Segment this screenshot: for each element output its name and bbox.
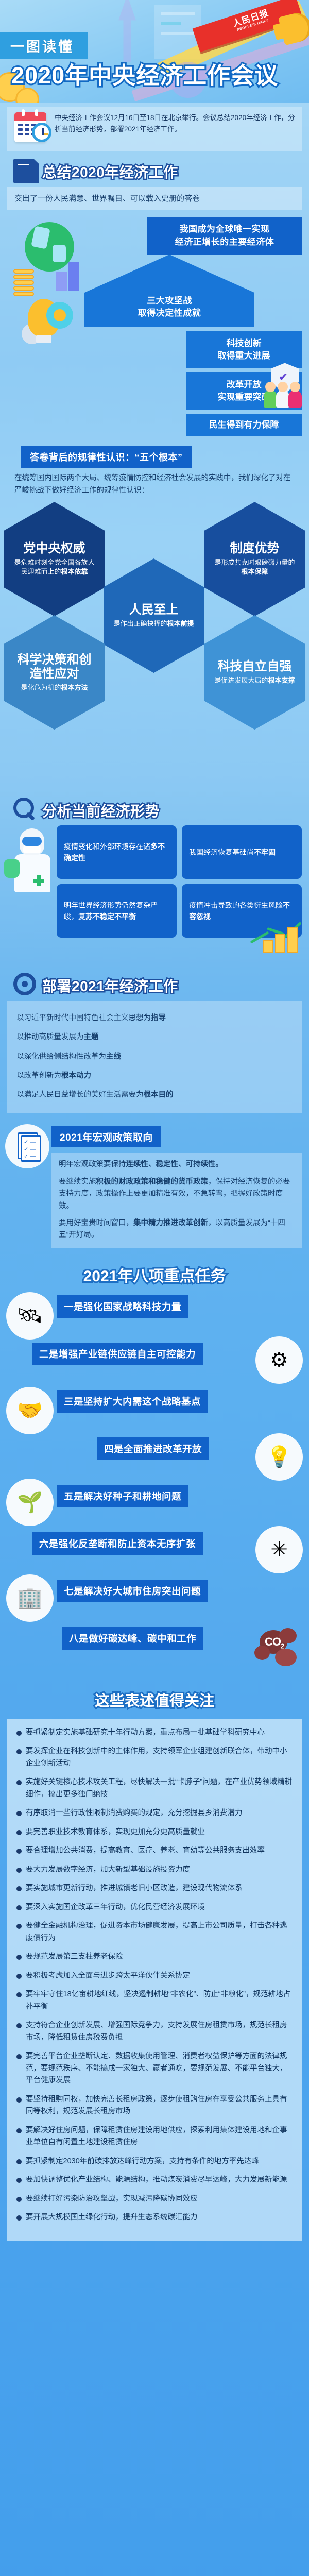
section-title-analysis: 分析当前经济形势 <box>0 799 309 822</box>
deploy-plain: 以习近平新时代中国特色社会主义思想为 <box>16 1014 151 1022</box>
final-bullet-list: 要抓紧制定实施基础研究十年行动方案，重点布局一批基础学科研究中心要发挥企业在科技… <box>7 1719 302 2241</box>
hex-desc-plain: 是形成共克时艰磅礴力量的 <box>214 558 295 566</box>
five-fundamentals-paragraph: 在统筹国内国际两个大局、统筹疫情防控和经济社会发展的实践中，我们深化了对在严峻挑… <box>14 472 295 497</box>
section3-title: 部署2021年经济工作 <box>42 975 178 996</box>
final-bullet-item: 有序取消一些行政性限制消费购买的规定，充分挖掘县乡消费潜力 <box>15 1807 294 1819</box>
final-bullet-item: 实施好关键核心技术攻关工程，尽快解决一批“卡脖子”问题，在产业优势领域精耕细作，… <box>15 1776 294 1801</box>
hex-tech-selfreliance: 科技自立自强 是促进发展大局的根本支撑 <box>204 615 305 730</box>
macro-policy-text: 明年宏观政策要保持连续性、稳定性、可持续性。 要继续实施积极的财政政策和稳健的货… <box>51 1153 302 1248</box>
peoples-daily-ribbon: 人民日报 PEOPLE'S DAILY <box>194 0 309 60</box>
macro-p3-bold: 集中精力推进改革创新 <box>133 1219 208 1227</box>
task-label: 六是强化反垄断和防止资本无序扩张 <box>32 1532 203 1555</box>
section2-title: 分析当前经济形势 <box>42 800 160 821</box>
task-label: 七是解决好大城市住房突出问题 <box>57 1580 208 1602</box>
hex-desc-bold: 根本支撑 <box>268 676 295 684</box>
analysis-card: 明年世界经济形势仍然复杂严峻，复苏不稳定不平衡 <box>57 884 177 938</box>
card-text-plain: 我国经济恢复基础尚 <box>189 848 254 856</box>
task-icon-glyph: 🤝 <box>17 1400 43 1421</box>
hex-desc-bold: 根本依靠 <box>61 568 88 575</box>
achievement-three-battles: 三大攻坚战 取得决定性成就 <box>84 293 254 327</box>
co2-icon: CO2 <box>254 1628 301 1667</box>
hex-title: 科技自立自强 <box>213 659 297 674</box>
globe-growth-icon <box>10 222 77 299</box>
coins-icon <box>13 268 34 296</box>
macro-policy-heading: 2021年宏观政策取向 <box>51 1126 161 1147</box>
task-icon-glyph: ⚙ <box>270 1350 288 1370</box>
eight-tasks-title: 2021年八项重点任务 <box>0 1263 309 1286</box>
deploy-plain: 以推动高质量发展为 <box>16 1033 84 1041</box>
achievement-line2: 经济正增长的主要经济体 <box>152 236 297 249</box>
arrow-decoration <box>118 0 136 62</box>
hex-title: 制度优势 <box>213 541 297 556</box>
task-label: 五是解决好种子和耕地问题 <box>57 1485 188 1507</box>
final-bullet-item: 要深入实施国企改革三年行动，优化民营经济发展环境 <box>15 1902 294 1913</box>
hex-scientific-decision: 科学决策和创造性应对 是化危为机的根本方法 <box>4 615 105 730</box>
macro-p2: 要继续实施积极的财政政策和稳健的货币政策，保持对经济恢复的必要支持力度，政策操作… <box>59 1176 295 1212</box>
magnifier-icon <box>13 798 34 818</box>
final-bullet-item: 要完善平台企业垄断认定、数据收集使用管理、消费者权益保护等方面的法律规范，要规范… <box>15 2050 294 2087</box>
hex-desc: 是形成共克时艰磅礴力量的根本保障 <box>213 558 297 577</box>
deploy-bold: 根本动力 <box>61 1072 91 1080</box>
final-bullet-item: 要大力发展数字经济，加大新型基础设施投资力度 <box>15 1864 294 1876</box>
tech-line1: 科技创新 <box>190 337 298 350</box>
achievement-line1: 我国成为全球唯一实现 <box>152 223 297 236</box>
final-bullet-item: 支持符合企业创新发展、增强国际竞争力，支持发展住房租赁市场，规范长租房市场，降低… <box>15 2020 294 2044</box>
final-section-title: 这些表述值得关注 <box>0 1689 309 1710</box>
header-banner: 人民日报 PEOPLE'S DAILY 一图读懂 2020年中央经济工作会议 <box>0 0 309 103</box>
final-bullet-item: 要抓紧制定2030年前碳排放达峰行动方案，支持有条件的地方率先达峰 <box>15 2156 294 2167</box>
checklist-icon: ✓ — ✓ — ✓ — <box>5 1124 49 1168</box>
document-pen-icon <box>13 159 39 183</box>
task-icon-glyph: 💡 <box>266 1447 292 1467</box>
intro-block: 中央经济工作会议12月16日至18日在北京举行。会议总结2020年经济工作，分析… <box>7 107 302 151</box>
seedling-shovel-icon: 🌱 <box>6 1479 54 1526</box>
hex-desc: 是作出正确抉择的根本前提 <box>112 619 196 629</box>
card-text-plain: 疫情变化和外部环境存在诸 <box>64 842 150 851</box>
task-label: 四是全面推进改革开放 <box>97 1437 209 1460</box>
macro-p2-a: 要继续实施 <box>59 1178 96 1186</box>
analysis-card: 疫情冲击导致的各类衍生风险不容忽视 <box>182 884 302 938</box>
intro-text: 中央经济工作会议12月16日至18日在北京举行。会议总结2020年经济工作，分析… <box>55 112 298 135</box>
task-icon-glyph: 🛰 <box>17 1306 43 1326</box>
deploy-bold: 根本目的 <box>144 1091 174 1099</box>
macro-p3-a: 要用好宝贵时间窗口， <box>59 1219 133 1227</box>
hex-title: 科学决策和创造性应对 <box>12 653 96 681</box>
anti-monopoly-icon: ✳ <box>255 1526 303 1573</box>
task-item: 💡 四是全面推进改革开放 <box>0 1434 309 1482</box>
hex-desc-bold: 根本方法 <box>61 684 88 691</box>
section1-lead: 交出了一份人民满意、世界瞩目、可以载入史册的答卷 <box>7 187 302 210</box>
lightbulb-gear-icon: 💡 <box>255 1433 303 1481</box>
deploy-row: 以满足人民日益增长的美好生活需要为根本目的 <box>16 1086 293 1105</box>
task-label: 三是坚持扩大内需这个战略基点 <box>57 1390 208 1413</box>
task-item: ⚙ 二是增强产业链供应链自主可控能力 <box>0 1340 309 1387</box>
task-item: 🏢 七是解决好大城市住房突出问题 <box>0 1577 309 1624</box>
final-bullet-item: 要完善职业技术教育体系，实现更加充分更高质量就业 <box>15 1826 294 1838</box>
final-bullet-item: 要坚持租购同权，加快完善长租房政策，逐步使租购住房在享受公共服务上具有同等权利，… <box>15 2094 294 2118</box>
deploy-bold: 主题 <box>84 1033 99 1041</box>
housing-hand-icon: 🏢 <box>6 1574 54 1622</box>
achievement-arrow-group: 三大攻坚战 取得决定性成就 <box>84 255 254 327</box>
task-item: 🌱 五是解决好种子和耕地问题 <box>0 1482 309 1529</box>
hex-title: 人民至上 <box>112 603 196 617</box>
final-bullet-item: 要实施城市更新行动，推进城镇老旧小区改造，建设现代物流体系 <box>15 1883 294 1894</box>
task-label: 八是做好碳达峰、碳中和工作 <box>62 1627 203 1650</box>
final-bullet-item: 要发挥企业在科技创新中的主体作用，支持领军企业组建创新联合体，带动中小企业创新活… <box>15 1745 294 1770</box>
doctor-ppe-icon <box>6 827 58 905</box>
growth-chart-icon <box>248 907 305 953</box>
analysis-card: 我国经济恢复基础尚不牢固 <box>182 825 302 879</box>
three-battles-line2: 取得决定性成就 <box>90 307 249 319</box>
deploy-row: 以习近平新时代中国特色社会主义思想为指导 <box>16 1009 293 1028</box>
task-label: 一是强化国家战略科技力量 <box>57 1295 188 1318</box>
analysis-cards: 疫情变化和外部环境存在诸多不确定性 我国经济恢复基础尚不牢固 明年世界经济形势仍… <box>7 825 302 938</box>
final-bullet-item: 要规范发展第三支柱养老保险 <box>15 1951 294 1963</box>
deploy-plain: 以改革创新为 <box>16 1072 61 1080</box>
final-bullet-item: 要加快调整优化产业结构、能源结构，推动煤炭消费尽早达峰，大力发展新能源 <box>15 2174 294 2186</box>
hand-card-icon: 🤝 <box>6 1387 54 1434</box>
final-bullet-item: 要开展大规模国土绿化行动，提升生态系统碳汇能力 <box>15 2212 294 2224</box>
section1-title: 总结2020年经济工作 <box>42 161 178 182</box>
task-label: 二是增强产业链供应链自主可控能力 <box>32 1343 203 1365</box>
header-tag: 一图读懂 <box>0 32 88 59</box>
five-fundamentals-hexagons: 党中央权威 是危难时刻全党全国各族人民迎难而上的根本依靠 制度优势 是形成共克时… <box>0 502 309 790</box>
card-text-bold: 不牢固 <box>254 848 276 856</box>
task-icon-glyph: 🏢 <box>17 1588 43 1608</box>
task-icon-glyph: ✳ <box>270 1539 288 1560</box>
final-bullet-item: 要合理增加公共消费，提高教育、医疗、养老、育幼等公共服务支出效率 <box>15 1845 294 1857</box>
arrow-head-shape <box>84 255 254 293</box>
shield-check-icon <box>264 363 304 408</box>
card-text-bold: 苏不稳定不平衡 <box>85 912 136 921</box>
hex-desc: 是促进发展大局的根本支撑 <box>213 676 297 685</box>
final-bullet-item: 要积极考虑加入全面与进步跨太平洋伙伴关系协定 <box>15 1970 294 1982</box>
deploy-bold: 指导 <box>151 1014 166 1022</box>
hex-desc: 是危难时刻全党全国各族人民迎难而上的根本依靠 <box>12 558 96 577</box>
deploy-row: 以推动高质量发展为主题 <box>16 1028 293 1047</box>
final-bullet-item: 要继续打好污染防治攻坚战，实现减污降碳协同效应 <box>15 2193 294 2205</box>
hex-desc-plain: 是化危为机的 <box>21 684 61 691</box>
deploy-plain: 以满足人民日益增长的美好生活需要为 <box>16 1091 144 1099</box>
task-item: 🤝 三是坚持扩大内需这个战略基点 <box>0 1387 309 1434</box>
section-title-deploy: 部署2021年经济工作 <box>0 974 309 997</box>
task-item: CO2 八是做好碳达峰、碳中和工作 <box>0 1624 309 1671</box>
macro-p1: 明年宏观政策要保持连续性、稳定性、可持续性。 <box>59 1159 295 1171</box>
deploy-bold: 主线 <box>106 1053 121 1061</box>
final-bullet-item: 要健全金融机构治理，促进资本市场健康发展，提高上市公司质量，打击各种逃废债行为 <box>15 1920 294 1944</box>
macro-policy-block: ✓ — ✓ — ✓ — 2021年宏观政策取向 明年宏观政策要保持连续性、稳定性… <box>7 1126 302 1248</box>
target-arrow-icon <box>13 973 36 995</box>
hex-desc-bold: 根本前提 <box>167 620 194 628</box>
task-icon-glyph: 🌱 <box>17 1492 43 1513</box>
co2-label: CO2 <box>265 1635 284 1650</box>
achievements-block: 我国成为全球唯一实现 经济正增长的主要经济体 三大攻坚战 取得决定性成就 科技创… <box>7 217 302 436</box>
three-battles-line1: 三大攻坚战 <box>90 295 249 307</box>
deploy-plain: 以深化供给侧结构性改革为 <box>16 1053 106 1061</box>
hex-desc-plain: 是作出正确抉择的 <box>113 620 167 628</box>
supply-chain-icon: ⚙ <box>255 1336 303 1384</box>
deploy-row: 以深化供给侧结构性改革为主线 <box>16 1047 293 1066</box>
achievement-global-growth: 我国成为全球唯一实现 经济正增长的主要经济体 <box>147 217 302 255</box>
section-title-summary: 总结2020年经济工作 <box>0 160 309 183</box>
five-fundamentals-heading: 答卷背后的规律性认识：“五个根本” <box>21 446 192 468</box>
satellite-icon: 🛰 <box>6 1292 54 1340</box>
deploy-row: 以改革创新为根本动力 <box>16 1066 293 1086</box>
deploy-panel: 以习近平新时代中国特色社会主义思想为指导 以推动高质量发展为主题 以深化供给侧结… <box>7 1001 302 1113</box>
hex-desc: 是化危为机的根本方法 <box>12 683 96 692</box>
macro-p3: 要用好宝贵时间窗口，集中精力推进改革创新，以高质量发展为“十四五”开好局。 <box>59 1217 295 1242</box>
hex-desc-bold: 根本保障 <box>241 568 268 575</box>
task-item: ✳ 六是强化反垄断和防止资本无序扩张 <box>0 1529 309 1577</box>
hex-system-advantage: 制度优势 是形成共克时艰磅礴力量的根本保障 <box>204 502 305 616</box>
final-bullet-item: 要抓紧制定实施基础研究十年行动方案，重点布局一批基础学科研究中心 <box>15 1727 294 1739</box>
final-bullet-item: 要解决好住房问题，保障租赁住房建设用地供应，探索利用集体建设用地和企事业单位自有… <box>15 2125 294 2149</box>
infographic-page: 人民日报 PEOPLE'S DAILY 一图读懂 2020年中央经济工作会议 中… <box>0 0 309 2576</box>
hex-title: 党中央权威 <box>12 541 96 556</box>
macro-p1-bold: 连续性、稳定性、可持续性。 <box>126 1160 224 1168</box>
analysis-card: 疫情变化和外部环境存在诸多不确定性 <box>57 825 177 879</box>
final-bullet-item: 要牢牢守住18亿亩耕地红线，坚决遏制耕地“非农化”、防止“非粮化”，规范耕地占补… <box>15 1989 294 2013</box>
macro-p2-bold: 积极的财政政策和稳健的货币政策 <box>96 1178 209 1186</box>
task-item: 🛰 一是强化国家战略科技力量 <box>0 1292 309 1340</box>
hex-people-first: 人民至上 是作出正确抉择的根本前提 <box>104 558 204 673</box>
hex-party-authority: 党中央权威 是危难时刻全党全国各族人民迎难而上的根本依靠 <box>4 502 105 616</box>
clock-icon <box>32 123 51 142</box>
macro-p1-plain: 明年宏观政策要保持 <box>59 1160 126 1168</box>
hex-desc-plain: 是促进发展大局的 <box>214 676 268 684</box>
tech-line2: 取得重大进展 <box>190 350 298 362</box>
page-title: 2020年中央经济工作会议 <box>11 57 278 90</box>
achievement-livelihood: 民生得到有力保障 <box>186 414 302 436</box>
